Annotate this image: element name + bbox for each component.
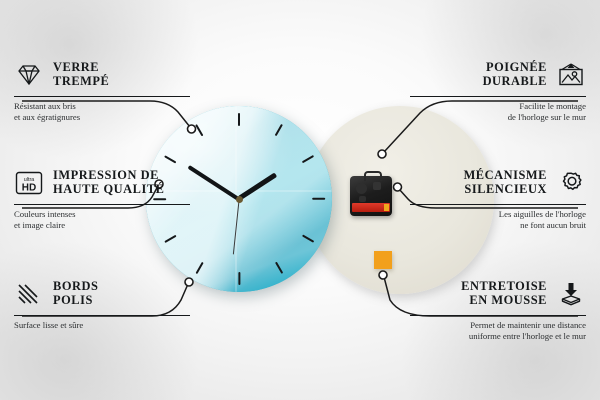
feature-title: POIGNÉE DURABLE bbox=[483, 61, 547, 88]
infographic-canvas: VERRE TREMPÉ Résistant aux bris et aux é… bbox=[0, 0, 600, 400]
feature-header: ultra HD IMPRESSION DE HAUTE QUALITÉ bbox=[14, 166, 190, 200]
diamond-icon bbox=[14, 60, 44, 90]
feature-title: BORDS POLIS bbox=[53, 280, 98, 307]
feature-title: IMPRESSION DE HAUTE QUALITÉ bbox=[53, 169, 164, 196]
feature-impression-haute-qualite: ultra HD IMPRESSION DE HAUTE QUALITÉ Cou… bbox=[14, 166, 190, 231]
feature-divider bbox=[410, 204, 586, 205]
feature-poignee-durable: POIGNÉE DURABLE Facilite le montage de l… bbox=[410, 58, 586, 123]
picture-hanger-icon bbox=[556, 60, 586, 90]
feature-divider bbox=[14, 315, 190, 316]
feature-divider bbox=[14, 204, 190, 205]
feature-title: ENTRETOISE EN MOUSSE bbox=[461, 280, 547, 307]
feature-subtitle: Facilite le montage de l'horloge sur le … bbox=[410, 101, 586, 123]
polished-edges-icon bbox=[14, 279, 44, 309]
feature-title: VERRE TREMPÉ bbox=[53, 61, 109, 88]
feature-divider bbox=[410, 315, 586, 316]
gear-icon bbox=[556, 168, 586, 198]
feature-subtitle: Surface lisse et sûre bbox=[14, 320, 190, 331]
connector-endpoint-verre-trempe bbox=[188, 125, 196, 133]
connector-endpoint-entretoise bbox=[379, 271, 387, 279]
feature-divider bbox=[410, 96, 586, 97]
feature-entretoise-en-mousse: ENTRETOISE EN MOUSSE Permet de maintenir… bbox=[410, 277, 586, 342]
feature-divider bbox=[14, 96, 190, 97]
feature-subtitle: Les aiguilles de l'horloge ne font aucun… bbox=[410, 209, 586, 231]
feature-header: ENTRETOISE EN MOUSSE bbox=[410, 277, 586, 311]
feature-subtitle: Couleurs intenses et image claire bbox=[14, 209, 190, 231]
feature-subtitle: Permet de maintenir une distance uniform… bbox=[410, 320, 586, 342]
feature-subtitle: Résistant aux bris et aux égratignures bbox=[14, 101, 190, 123]
feature-mecanisme-silencieux: MÉCANISME SILENCIEUX Les aiguilles de l'… bbox=[410, 166, 586, 231]
feature-bords-polis: BORDS POLIS Surface lisse et sûre bbox=[14, 277, 190, 331]
feature-header: MÉCANISME SILENCIEUX bbox=[410, 166, 586, 200]
connector-endpoint-poignee-durable bbox=[378, 150, 386, 158]
svg-text:HD: HD bbox=[22, 183, 36, 194]
feature-title: MÉCANISME SILENCIEUX bbox=[464, 169, 547, 196]
feature-header: POIGNÉE DURABLE bbox=[410, 58, 586, 92]
connector-endpoint-mecanisme bbox=[394, 183, 402, 191]
feature-verre-trempe: VERRE TREMPÉ Résistant aux bris et aux é… bbox=[14, 58, 190, 123]
feature-header: BORDS POLIS bbox=[14, 277, 190, 311]
feature-header: VERRE TREMPÉ bbox=[14, 58, 190, 92]
foam-spacer-icon bbox=[556, 279, 586, 309]
ultra-hd-icon: ultra HD bbox=[14, 168, 44, 198]
